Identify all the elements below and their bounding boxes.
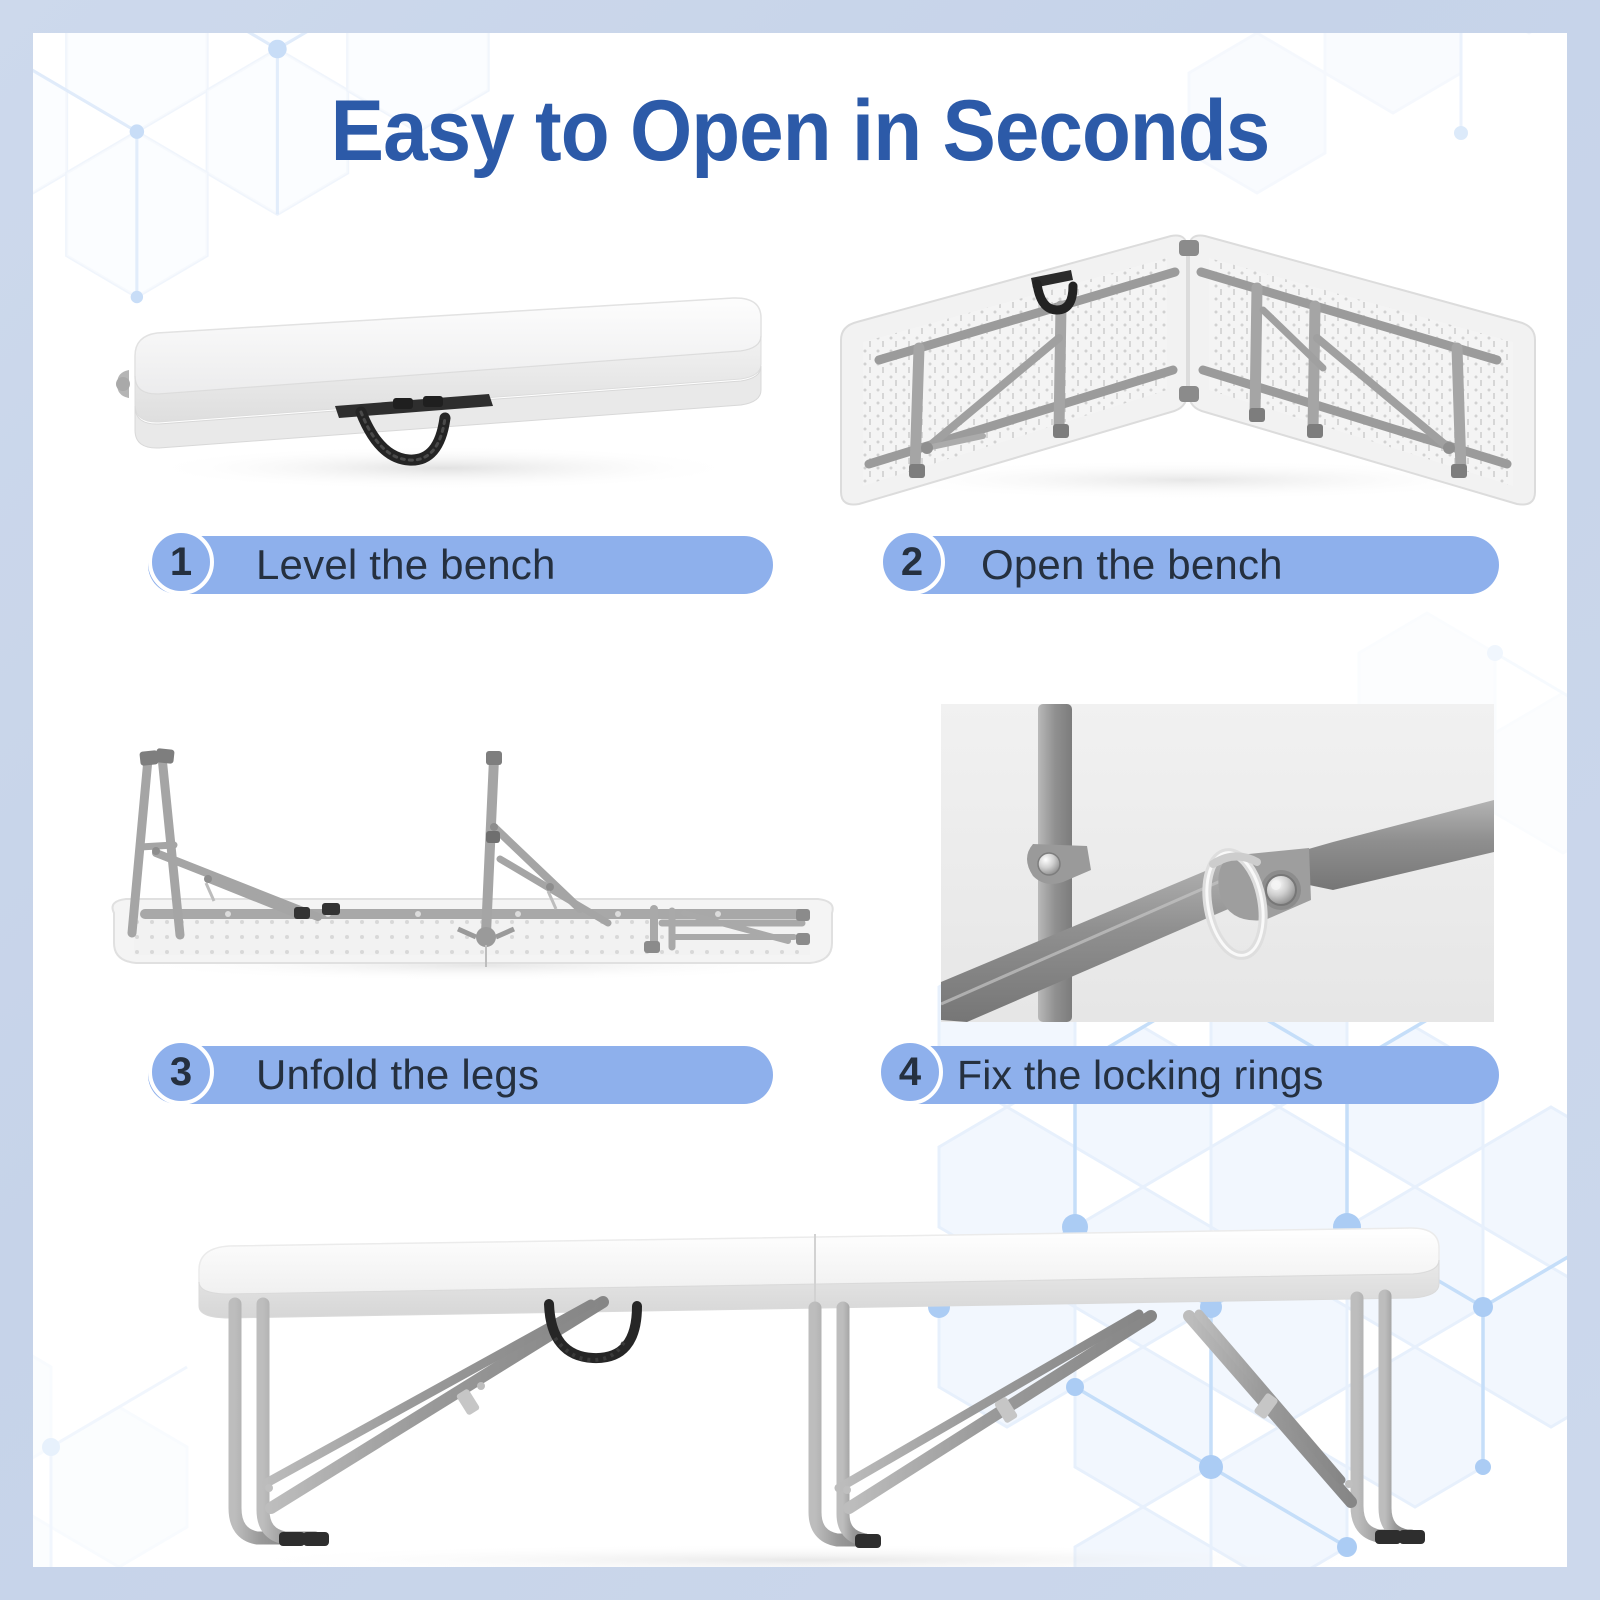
page-title: Easy to Open in Seconds xyxy=(87,88,1514,174)
step-2-label: Open the bench xyxy=(981,536,1485,594)
step-4-photo-locking-ring-closeup xyxy=(941,704,1494,1022)
step-1-label: Level the bench xyxy=(256,536,759,594)
step-2-number-badge: 2 xyxy=(879,529,945,595)
step-3-label: Unfold the legs xyxy=(256,1046,759,1104)
step-3-label-row[interactable]: 3 Unfold the legs xyxy=(148,1046,773,1104)
step-2-photo-opened-bench xyxy=(823,218,1553,508)
step-4-label: Fix the locking rings xyxy=(957,1046,1485,1104)
step-1-photo-folded-bench xyxy=(93,278,793,508)
hero-photo-assembled-bench xyxy=(143,1208,1473,1567)
step-1-number-badge: 1 xyxy=(148,529,214,595)
step-2-label-row[interactable]: 2 Open the bench xyxy=(881,536,1499,594)
step-1-label-row[interactable]: 1 Level the bench xyxy=(148,536,773,594)
step-3-photo-unfolding-legs xyxy=(88,723,858,983)
poster-canvas: Easy to Open in Seconds xyxy=(33,33,1567,1567)
step-3-number-badge: 3 xyxy=(148,1039,214,1105)
infographic-poster: Easy to Open in Seconds xyxy=(0,0,1600,1600)
step-4-label-row[interactable]: 4 Fix the locking rings xyxy=(881,1046,1499,1104)
step-4-number-badge: 4 xyxy=(877,1039,943,1105)
